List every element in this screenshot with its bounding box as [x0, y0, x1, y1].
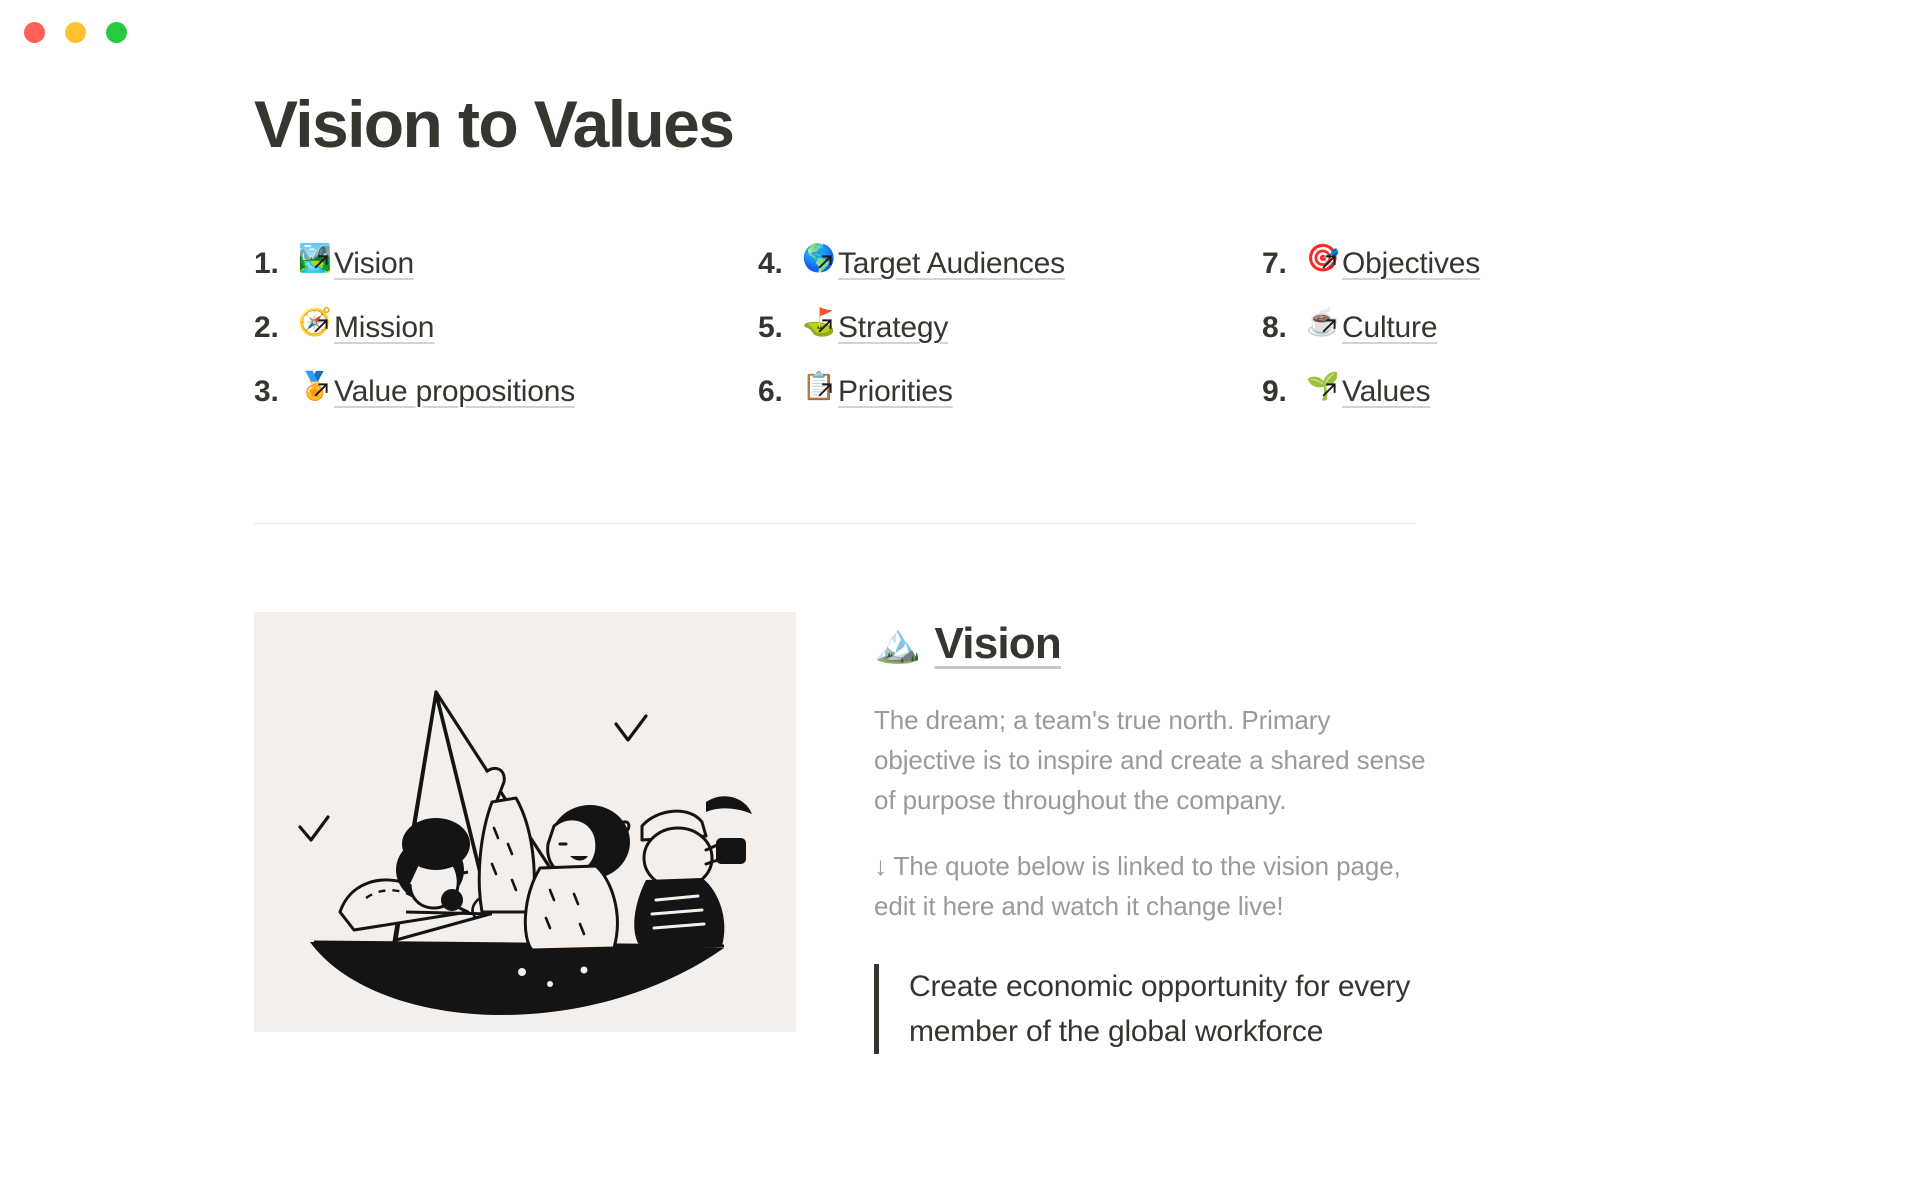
compass-icon: 🧭	[298, 307, 334, 337]
links-column-3: 7. 🎯 Objectives 8. ☕	[1262, 243, 1674, 435]
link-label[interactable]: Priorities	[838, 375, 953, 409]
golf-flag-icon: ⛳	[802, 307, 838, 337]
list-number: 4.	[758, 247, 802, 281]
link-item-culture[interactable]: 8. ☕ Culture	[1262, 307, 1674, 371]
sailboat-line-art-icon	[254, 612, 796, 1032]
link-item-vision[interactable]: 1. 🏞️ Vision	[254, 243, 758, 307]
section-divider	[254, 523, 1416, 524]
link-label[interactable]: Strategy	[838, 311, 948, 345]
clipboard-icon: 📋	[802, 371, 838, 401]
links-column-2: 4. 🌎 Target Audiences 5. ⛳	[758, 243, 1262, 435]
link-item-value-propositions[interactable]: 3. 🏅 Value propositions	[254, 371, 758, 435]
window-controls	[24, 22, 127, 43]
document-page: Vision to Values 1. 🏞️ Vision 2.	[0, 62, 1920, 1200]
link-label[interactable]: Values	[1342, 375, 1430, 409]
minimize-button[interactable]	[65, 22, 86, 43]
list-number: 9.	[1262, 375, 1306, 409]
vision-section: 🏔️ Vision The dream; a team's true north…	[254, 612, 1674, 1054]
list-number: 8.	[1262, 311, 1306, 345]
medal-icon: 🏅	[298, 371, 334, 401]
snow-mountain-icon: 🏔️	[874, 625, 921, 663]
document-content: Vision to Values 1. 🏞️ Vision 2.	[254, 62, 1674, 1054]
link-item-values[interactable]: 9. 🌱 Values	[1262, 371, 1674, 435]
link-item-objectives[interactable]: 7. 🎯 Objectives	[1262, 243, 1674, 307]
vision-description: The dream; a team's true north. Primary …	[874, 700, 1434, 820]
globe-icon: 🌎	[802, 243, 838, 273]
vision-heading: 🏔️ Vision	[874, 622, 1434, 666]
dart-target-icon: 🎯	[1306, 243, 1342, 273]
window-titlebar	[0, 0, 1920, 62]
list-number: 6.	[758, 375, 802, 409]
maximize-button[interactable]	[106, 22, 127, 43]
link-label[interactable]: Mission	[334, 311, 434, 345]
link-label[interactable]: Culture	[1342, 311, 1437, 345]
link-item-mission[interactable]: 2. 🧭 Mission	[254, 307, 758, 371]
page-title: Vision to Values	[254, 90, 1674, 159]
list-number: 2.	[254, 311, 298, 345]
vision-text-panel: 🏔️ Vision The dream; a team's true north…	[874, 612, 1434, 1054]
links-column-1: 1. 🏞️ Vision 2. 🧭	[254, 243, 758, 435]
link-item-strategy[interactable]: 5. ⛳ Strategy	[758, 307, 1262, 371]
link-label[interactable]: Objectives	[1342, 247, 1480, 281]
link-label[interactable]: Vision	[334, 247, 414, 281]
link-label[interactable]: Target Audiences	[838, 247, 1065, 281]
vision-edit-hint: ↓ The quote below is linked to the visio…	[874, 846, 1434, 926]
coffee-icon: ☕	[1306, 307, 1342, 337]
link-item-priorities[interactable]: 6. 📋 Priorities	[758, 371, 1262, 435]
section-links: 1. 🏞️ Vision 2. 🧭	[254, 243, 1674, 435]
list-number: 1.	[254, 247, 298, 281]
seedling-icon: 🌱	[1306, 371, 1342, 401]
mountain-icon: 🏞️	[298, 243, 334, 273]
list-number: 5.	[758, 311, 802, 345]
vision-heading-label[interactable]: Vision	[935, 622, 1061, 666]
link-item-target-audiences[interactable]: 4. 🌎 Target Audiences	[758, 243, 1262, 307]
vision-quote[interactable]: Create economic opportunity for every me…	[874, 964, 1434, 1054]
list-number: 7.	[1262, 247, 1306, 281]
vision-illustration	[254, 612, 796, 1032]
link-label[interactable]: Value propositions	[334, 375, 575, 409]
close-button[interactable]	[24, 22, 45, 43]
list-number: 3.	[254, 375, 298, 409]
